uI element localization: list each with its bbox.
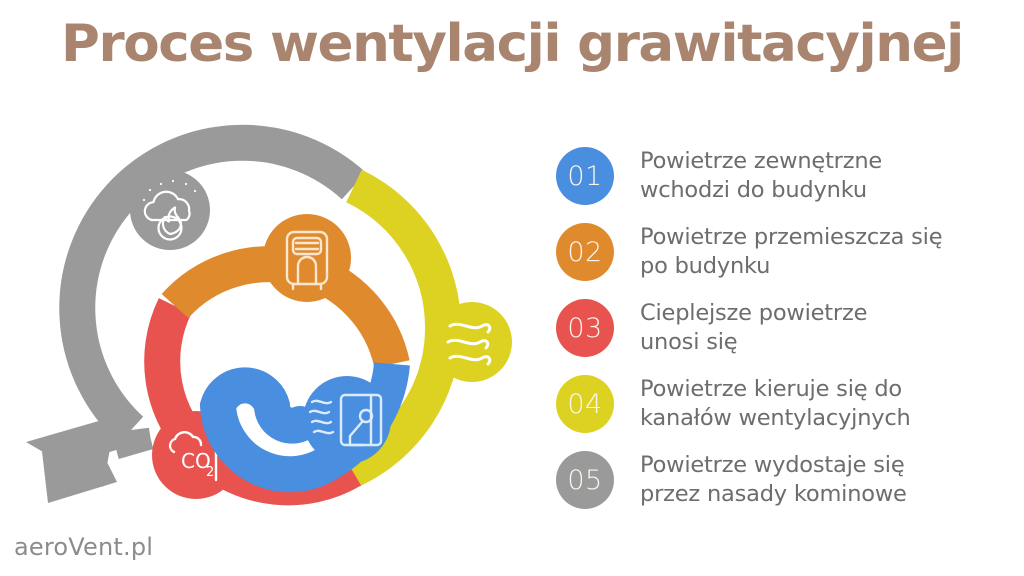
step-label-02-line2: po budynku xyxy=(640,252,942,281)
legend-item-03[interactable]: 03 Cieplejsze powietrze unosi się xyxy=(556,294,1016,362)
step-label-02: Powietrze przemieszcza się po budynku xyxy=(640,223,942,281)
step-badge-01[interactable]: 01 xyxy=(556,147,614,205)
diagram-bubble-blue[interactable] xyxy=(303,376,391,464)
step-badge-04[interactable]: 04 xyxy=(556,375,614,433)
diagram-bubble-yellow[interactable] xyxy=(432,302,512,382)
steps-legend: 01 Powietrze zewnętrzne wchodzi do budyn… xyxy=(556,142,1016,522)
step-label-04: Powietrze kieruje się do kanałów wentyla… xyxy=(640,375,911,433)
step-label-01-line1: Powietrze zewnętrzne xyxy=(640,147,882,176)
step-badge-03[interactable]: 03 xyxy=(556,299,614,357)
step-label-05-line1: Powietrze wydostaje się xyxy=(640,451,907,480)
ventilation-cycle-diagram: CO 2 xyxy=(0,120,540,540)
step-label-05: Powietrze wydostaje się przez nasady kom… xyxy=(640,451,907,509)
step-label-01: Powietrze zewnętrzne wchodzi do budynku xyxy=(640,147,882,205)
legend-item-05[interactable]: 05 Powietrze wydostaje się przez nasady … xyxy=(556,446,1016,514)
step-label-03: Cieplejsze powietrze unosi się xyxy=(640,299,867,357)
co2-subscript: 2 xyxy=(206,465,214,480)
step-badge-05[interactable]: 05 xyxy=(556,451,614,509)
step-label-03-line2: unosi się xyxy=(640,328,867,357)
infographic-page: Proces wentylacji grawitacyjnej xyxy=(0,0,1024,576)
page-title: Proces wentylacji grawitacyjnej xyxy=(0,14,1024,74)
step-label-03-line1: Cieplejsze powietrze xyxy=(640,299,867,328)
site-watermark: aeroVent.pl xyxy=(14,533,153,561)
step-label-04-line2: kanałów wentylacyjnych xyxy=(640,404,911,433)
diagram-bubble-gray[interactable] xyxy=(130,170,210,250)
diagram-bubble-orange[interactable] xyxy=(263,214,351,302)
step-label-02-line1: Powietrze przemieszcza się xyxy=(640,223,942,252)
step-label-05-line2: przez nasady kominowe xyxy=(640,480,907,509)
legend-item-01[interactable]: 01 Powietrze zewnętrzne wchodzi do budyn… xyxy=(556,142,1016,210)
legend-item-02[interactable]: 02 Powietrze przemieszcza się po budynku xyxy=(556,218,1016,286)
step-badge-02[interactable]: 02 xyxy=(556,223,614,281)
step-label-01-line2: wchodzi do budynku xyxy=(640,176,882,205)
legend-item-04[interactable]: 04 Powietrze kieruje się do kanałów went… xyxy=(556,370,1016,438)
step-label-04-line1: Powietrze kieruje się do xyxy=(640,375,911,404)
